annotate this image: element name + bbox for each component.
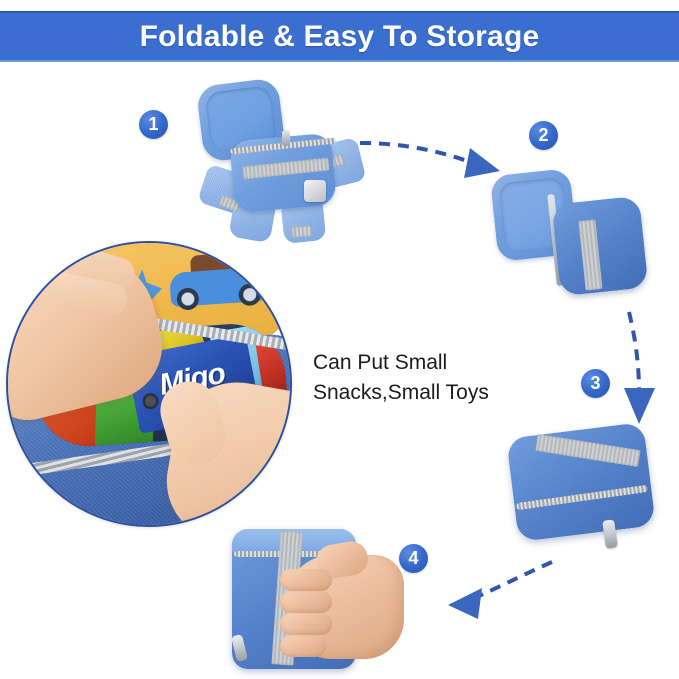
arrow-step2-to-step3 [629,312,639,392]
arrowhead-step3-to-step4 [448,588,482,619]
arrow-step1-to-step2 [360,143,478,165]
step-badge-4: 4 [399,544,428,573]
product-photo-step-2 [494,168,644,313]
inset-scene: Migo [6,241,292,527]
hand-finger-3 [280,613,332,635]
product-photo-step-4 [220,515,420,679]
buckle-clip [304,180,326,202]
infographic-page: Foldable & Easy To Storage [0,0,679,679]
product-photo-step-1 [196,82,362,238]
step-badge-2: 2 [529,121,558,150]
zipper-pull [282,130,290,146]
caption-line-2: Snacks,Small Toys [313,378,533,408]
hand-finger-2 [280,591,332,613]
closeup-inset-photo: Migo [6,241,292,527]
product-photo-step-3 [508,422,656,568]
arrowhead-step2-to-step3 [624,388,655,424]
arrow-step3-to-step4 [462,562,552,603]
step-badge-1: 1 [139,110,168,139]
cookie-graphic-2 [141,392,160,411]
cartoon-car-wheel-front [176,287,199,310]
step-badge-3: 3 [581,369,610,398]
cartoon-car-wheel-rear [238,283,261,306]
hand-finger-4 [280,635,326,657]
header-banner: Foldable & Easy To Storage [0,11,679,62]
hand-finger-1 [280,569,332,591]
caption-line-1: Can Put Small [313,348,533,378]
page-title: Foldable & Easy To Storage [140,20,540,54]
strap-tab-3 [292,225,313,237]
caption-block: Can Put Small Snacks,Small Toys [313,348,533,408]
